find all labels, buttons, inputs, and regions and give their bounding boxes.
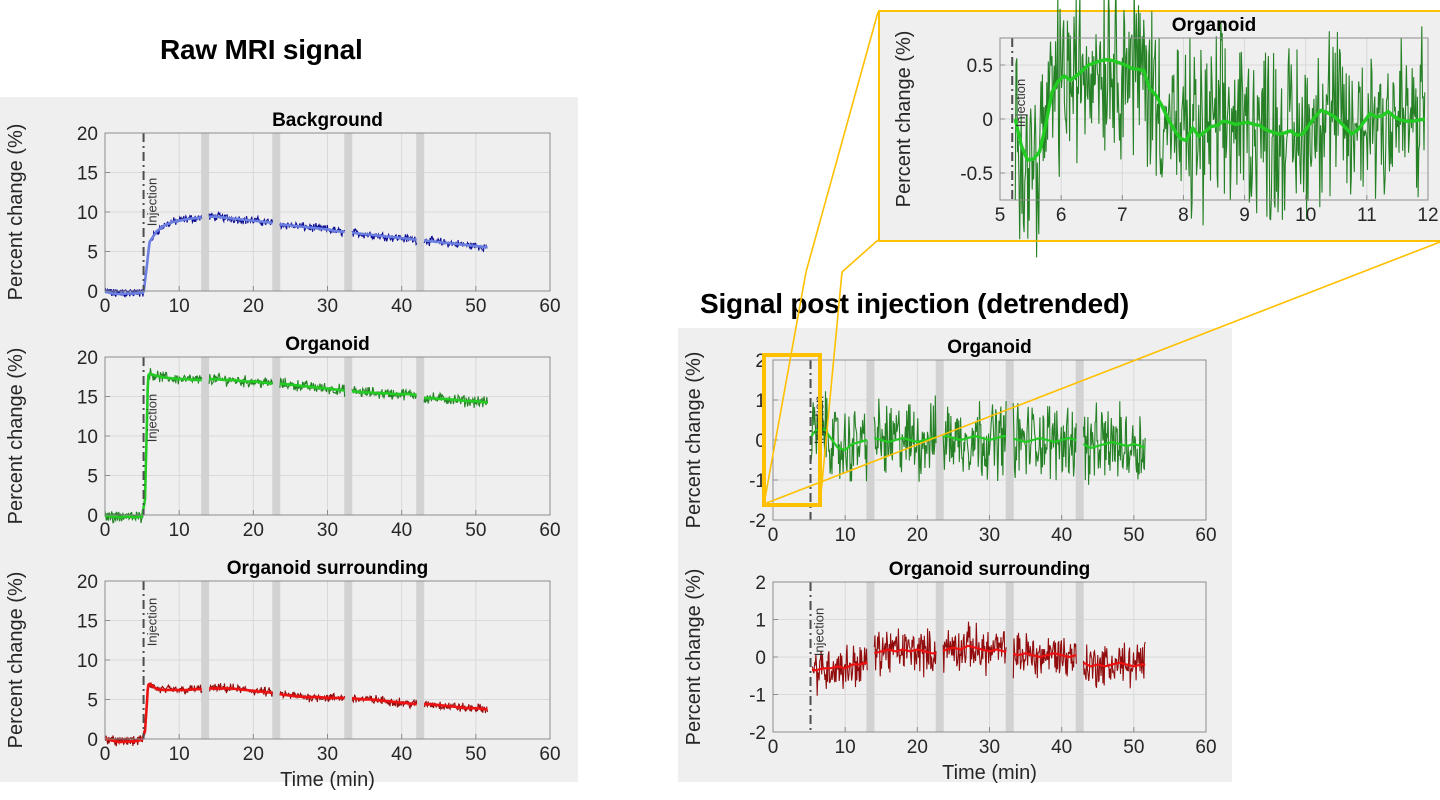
svg-text:11: 11 <box>1357 205 1377 226</box>
svg-text:0: 0 <box>768 525 779 546</box>
svg-text:-2: -2 <box>749 723 766 744</box>
svg-text:50: 50 <box>1123 737 1144 758</box>
svg-text:10: 10 <box>77 427 98 448</box>
svg-text:Injection: Injection <box>1013 79 1028 127</box>
svg-text:Organoid surrounding: Organoid surrounding <box>889 559 1091 580</box>
subplot-detrended-organoid: Injection0102030405060-2-1012OrganoidPer… <box>678 332 1232 554</box>
svg-text:20: 20 <box>243 520 264 541</box>
svg-text:Injection: Injection <box>145 394 160 442</box>
svg-text:15: 15 <box>77 164 98 185</box>
svg-text:6: 6 <box>1056 205 1067 226</box>
svg-text:Percent change (%): Percent change (%) <box>683 569 705 746</box>
svg-text:2: 2 <box>755 573 766 594</box>
svg-text:50: 50 <box>465 520 486 541</box>
svg-text:60: 60 <box>539 520 560 541</box>
svg-text:10: 10 <box>169 520 190 541</box>
svg-text:9: 9 <box>1239 205 1250 226</box>
svg-text:30: 30 <box>317 520 338 541</box>
svg-text:Organoid: Organoid <box>1172 15 1256 36</box>
callout-leader-bottom-left <box>842 240 878 272</box>
svg-text:Time (min): Time (min) <box>280 769 375 791</box>
svg-text:Percent change (%): Percent change (%) <box>5 572 27 749</box>
svg-text:Organoid surrounding: Organoid surrounding <box>227 558 429 579</box>
subplot-raw-background: Injection010203040506005101520Background… <box>0 103 578 327</box>
svg-text:10: 10 <box>835 737 856 758</box>
svg-text:-1: -1 <box>749 686 766 707</box>
svg-text:12: 12 <box>1417 205 1438 226</box>
callout-leader-top-left <box>806 12 878 272</box>
svg-text:Injection: Injection <box>812 396 827 444</box>
svg-text:40: 40 <box>1051 525 1072 546</box>
svg-text:10: 10 <box>77 651 98 672</box>
svg-text:Organoid: Organoid <box>285 334 369 355</box>
svg-text:5: 5 <box>87 243 98 264</box>
raw-signal-figure-panel: Injection010203040506005101520Background… <box>0 97 578 782</box>
svg-text:-0.5: -0.5 <box>960 164 993 185</box>
svg-text:40: 40 <box>391 520 412 541</box>
svg-text:5: 5 <box>87 691 98 712</box>
svg-text:50: 50 <box>1123 525 1144 546</box>
svg-text:0: 0 <box>768 737 779 758</box>
svg-text:60: 60 <box>539 296 560 317</box>
svg-text:10: 10 <box>835 525 856 546</box>
detrended-signal-figure-panel: Injection0102030405060-2-1012OrganoidPer… <box>678 328 1232 782</box>
svg-text:30: 30 <box>317 744 338 765</box>
svg-text:0: 0 <box>100 520 111 541</box>
svg-text:40: 40 <box>391 296 412 317</box>
svg-text:40: 40 <box>1051 737 1072 758</box>
subplot-detrended-organoid-surrounding: Injection0102030405060-2-1012Organoid su… <box>678 554 1232 782</box>
svg-text:30: 30 <box>979 525 1000 546</box>
svg-text:0: 0 <box>982 110 993 131</box>
svg-text:15: 15 <box>77 388 98 409</box>
svg-text:60: 60 <box>1195 525 1216 546</box>
svg-text:Injection: Injection <box>145 178 160 226</box>
svg-text:0: 0 <box>87 282 98 303</box>
svg-text:15: 15 <box>77 612 98 633</box>
svg-text:10: 10 <box>77 203 98 224</box>
raw-mri-signal-heading: Raw MRI signal <box>160 34 363 66</box>
svg-text:20: 20 <box>77 348 98 369</box>
svg-text:1: 1 <box>755 391 766 412</box>
svg-text:0: 0 <box>87 506 98 527</box>
svg-text:8: 8 <box>1178 205 1189 226</box>
svg-text:50: 50 <box>465 744 486 765</box>
svg-text:50: 50 <box>465 296 486 317</box>
svg-text:60: 60 <box>1195 737 1216 758</box>
svg-text:10: 10 <box>169 744 190 765</box>
svg-text:10: 10 <box>1295 205 1316 226</box>
svg-text:0.5: 0.5 <box>967 56 993 77</box>
svg-text:10: 10 <box>169 296 190 317</box>
subplot-raw-organoid-surrounding: Injection010203040506005101520Organoid s… <box>0 551 578 782</box>
svg-text:40: 40 <box>391 744 412 765</box>
svg-text:Injection: Injection <box>145 598 160 646</box>
subplot-raw-organoid: Injection010203040506005101520OrganoidPe… <box>0 327 578 551</box>
svg-text:5: 5 <box>995 205 1006 226</box>
svg-text:0: 0 <box>755 431 766 452</box>
svg-text:20: 20 <box>907 525 928 546</box>
organoid-zoom-inset-panel: Injection56789101112-0.500.5OrganoidPerc… <box>878 10 1440 242</box>
svg-text:20: 20 <box>907 737 928 758</box>
svg-text:5: 5 <box>87 467 98 488</box>
svg-text:20: 20 <box>77 124 98 145</box>
svg-text:2: 2 <box>755 351 766 372</box>
svg-text:-2: -2 <box>749 511 766 532</box>
svg-text:Organoid: Organoid <box>947 337 1031 358</box>
svg-text:30: 30 <box>979 737 1000 758</box>
svg-text:Percent change (%): Percent change (%) <box>683 352 705 529</box>
svg-text:-1: -1 <box>749 471 766 492</box>
svg-text:20: 20 <box>77 572 98 593</box>
svg-text:20: 20 <box>243 744 264 765</box>
svg-text:0: 0 <box>100 296 111 317</box>
svg-text:Background: Background <box>272 110 383 131</box>
detrended-signal-heading: Signal post injection (detrended) <box>700 288 1129 320</box>
svg-text:1: 1 <box>755 611 766 632</box>
subplot-organoid-zoom: Injection56789101112-0.500.5OrganoidPerc… <box>880 12 1440 240</box>
svg-text:Percent change (%): Percent change (%) <box>5 348 27 525</box>
svg-text:Time (min): Time (min) <box>942 762 1037 784</box>
svg-text:Percent change (%): Percent change (%) <box>893 31 915 208</box>
svg-text:0: 0 <box>87 730 98 751</box>
svg-text:20: 20 <box>243 296 264 317</box>
svg-text:7: 7 <box>1117 205 1128 226</box>
svg-text:0: 0 <box>755 648 766 669</box>
svg-text:0: 0 <box>100 744 111 765</box>
svg-text:30: 30 <box>317 296 338 317</box>
svg-text:Injection: Injection <box>812 608 827 656</box>
svg-text:Percent change (%): Percent change (%) <box>5 124 27 301</box>
svg-text:60: 60 <box>539 744 560 765</box>
